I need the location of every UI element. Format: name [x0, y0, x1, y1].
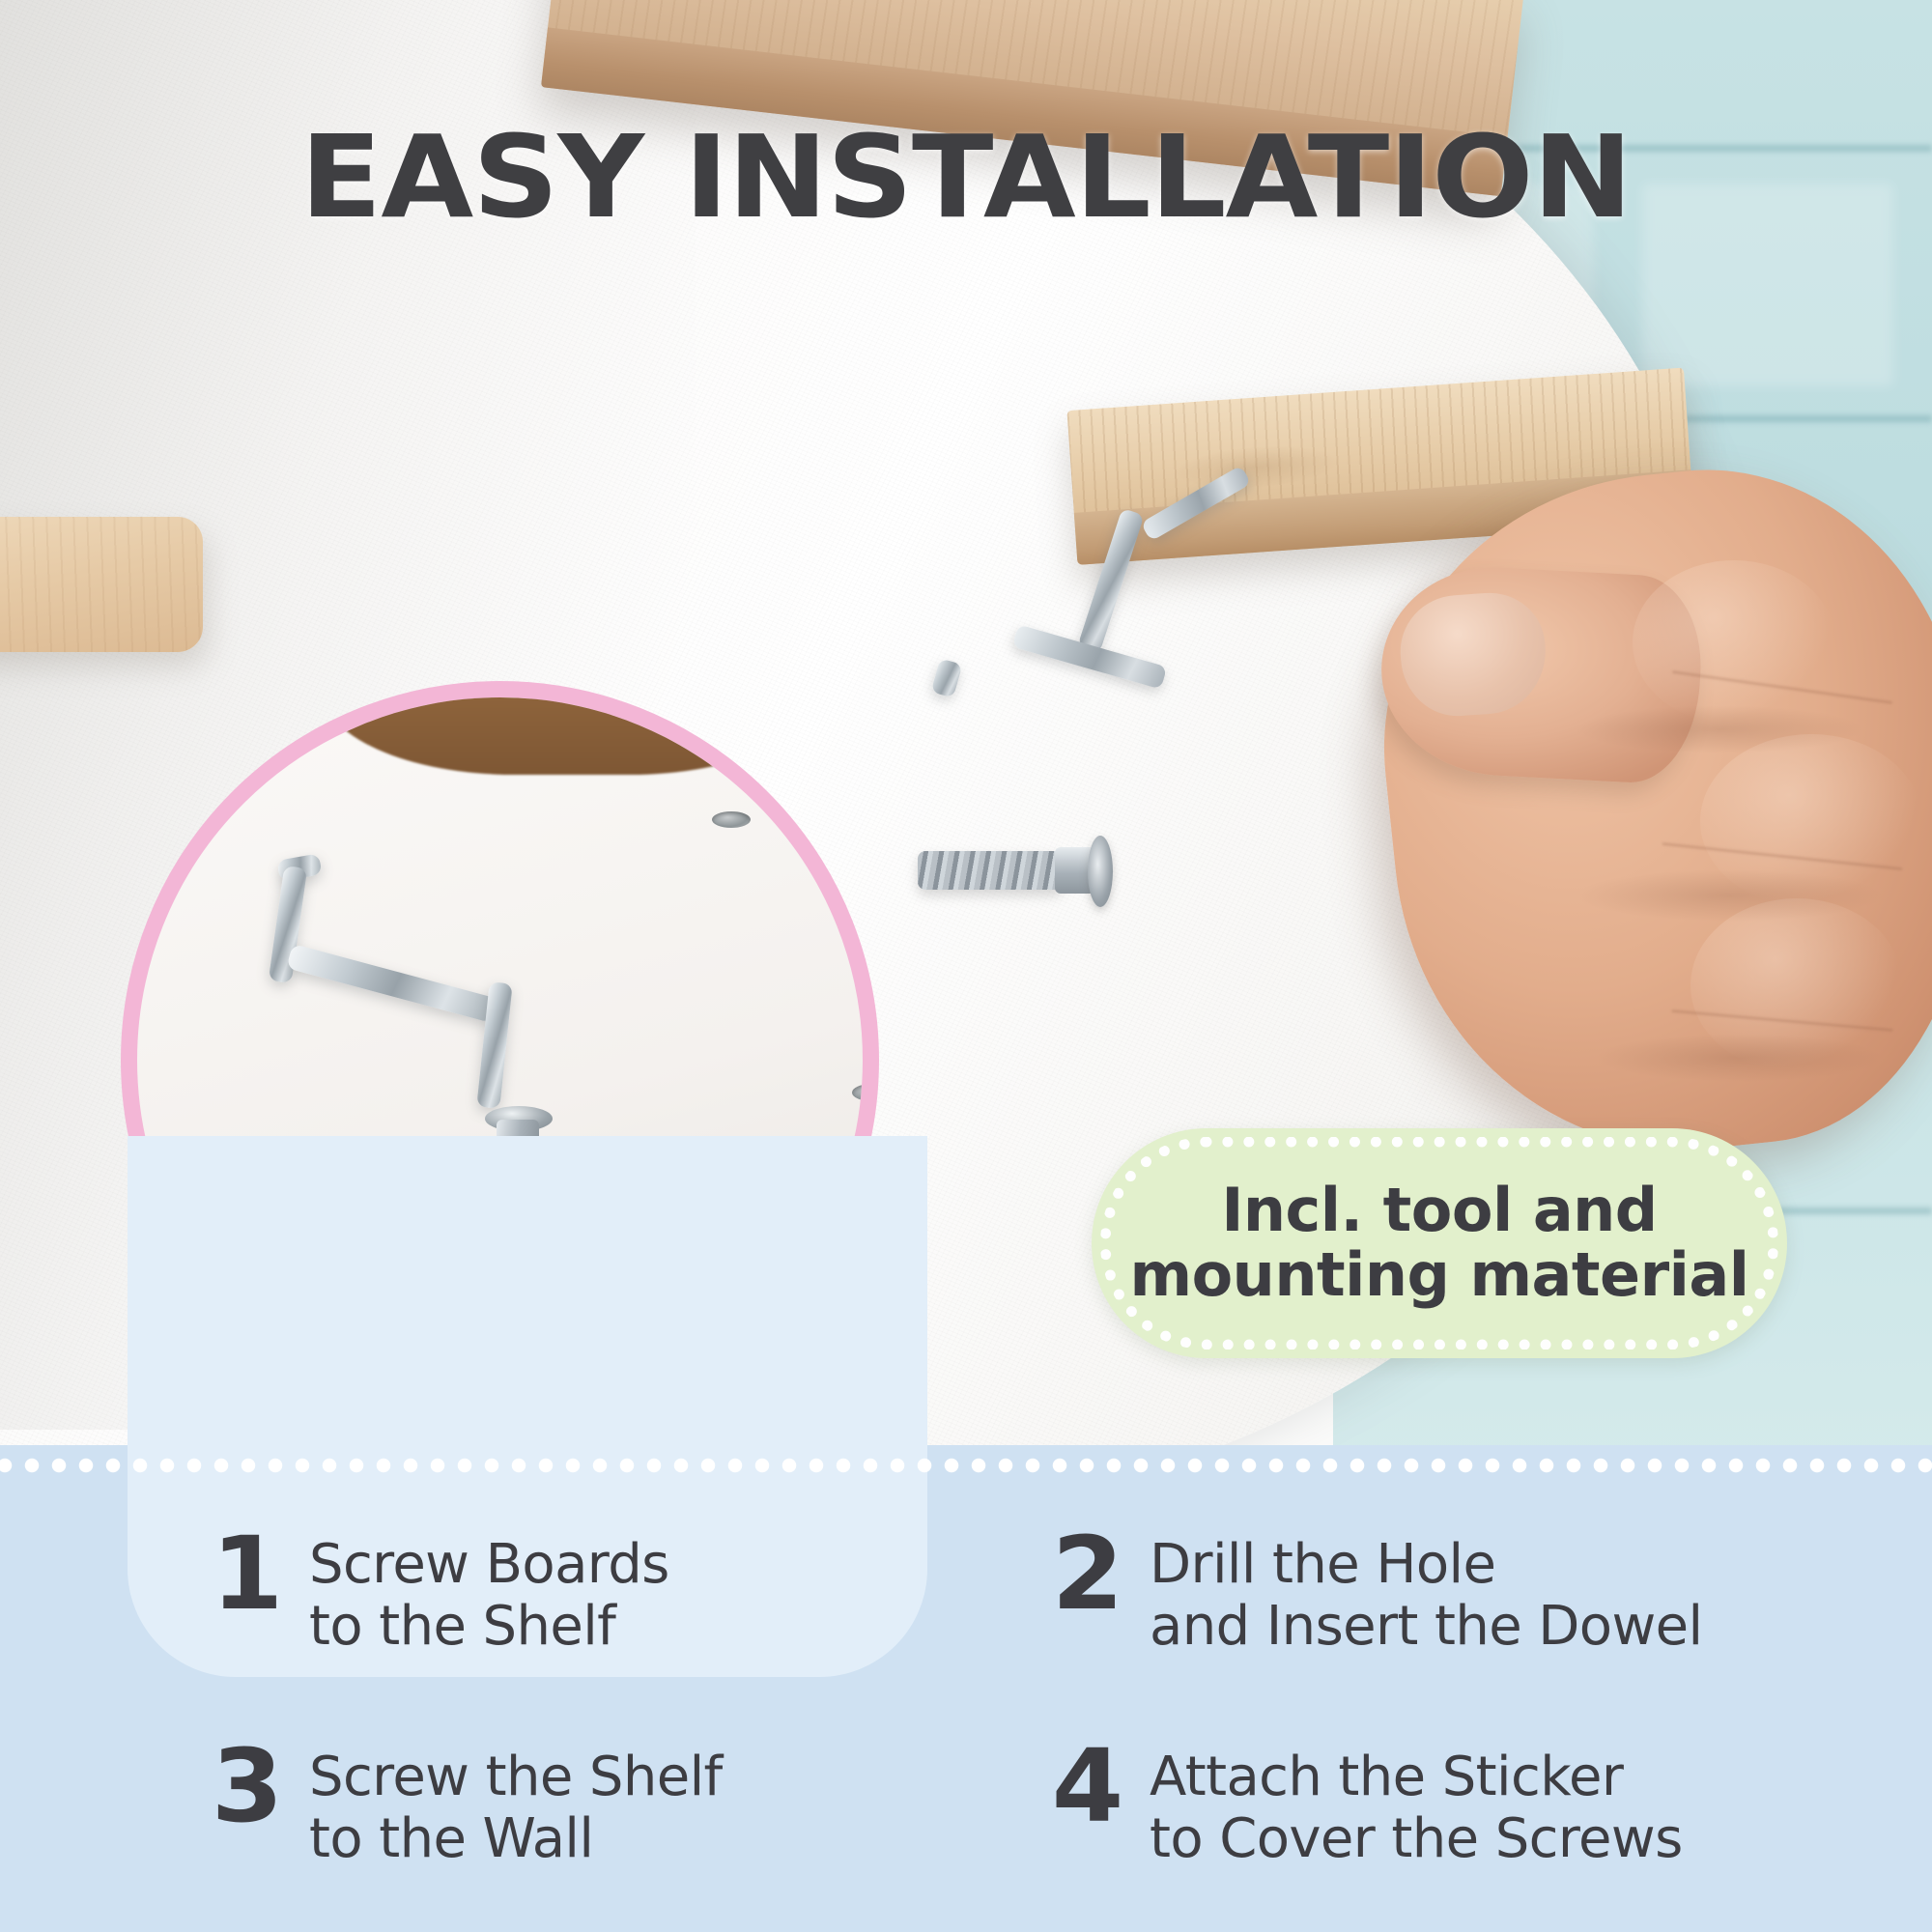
page-title: EASY INSTALLATION	[0, 120, 1932, 234]
step-2-number: 2	[1050, 1526, 1125, 1622]
step-1-text: Screw Boards to the Shelf	[309, 1526, 669, 1658]
hand-holding-tool	[1285, 415, 1932, 1217]
dotted-divider	[0, 1453, 1932, 1478]
step-item-2: 2 Drill the Hole and Insert the Dowel	[966, 1501, 1932, 1714]
step-item-1: 1 Screw Boards to the Shelf	[0, 1501, 966, 1714]
step-3-number: 3	[210, 1739, 285, 1834]
infographic-root: Incl. tool and mounting material EASY IN…	[0, 0, 1932, 1932]
step-4-number: 4	[1050, 1739, 1125, 1834]
step-item-3: 3 Screw the Shelf to the Wall	[0, 1714, 966, 1926]
step-2-text: Drill the Hole and Insert the Dowel	[1150, 1526, 1702, 1658]
inset-allen-key-icon	[272, 857, 562, 1137]
steps-grid: 1 Screw Boards to the Shelf 2 Drill the …	[0, 1501, 1932, 1926]
badge-line-1: Incl. tool and	[1221, 1175, 1657, 1245]
badge-line-2: mounting material	[1129, 1243, 1748, 1308]
steps-panel: 1 Screw Boards to the Shelf 2 Drill the …	[0, 1445, 1932, 1932]
step-item-4: 4 Attach the Sticker to Cover the Screws	[966, 1714, 1932, 1926]
allen-key-tool	[1024, 483, 1275, 889]
step-4-text: Attach the Sticker to Cover the Screws	[1150, 1739, 1683, 1870]
wood-board-left	[0, 517, 203, 652]
step-3-text: Screw the Shelf to the Wall	[309, 1739, 723, 1870]
step-1-number: 1	[210, 1526, 285, 1622]
included-tool-badge: Incl. tool and mounting material	[1092, 1128, 1787, 1358]
badge-text: Incl. tool and mounting material	[1096, 1179, 1781, 1308]
